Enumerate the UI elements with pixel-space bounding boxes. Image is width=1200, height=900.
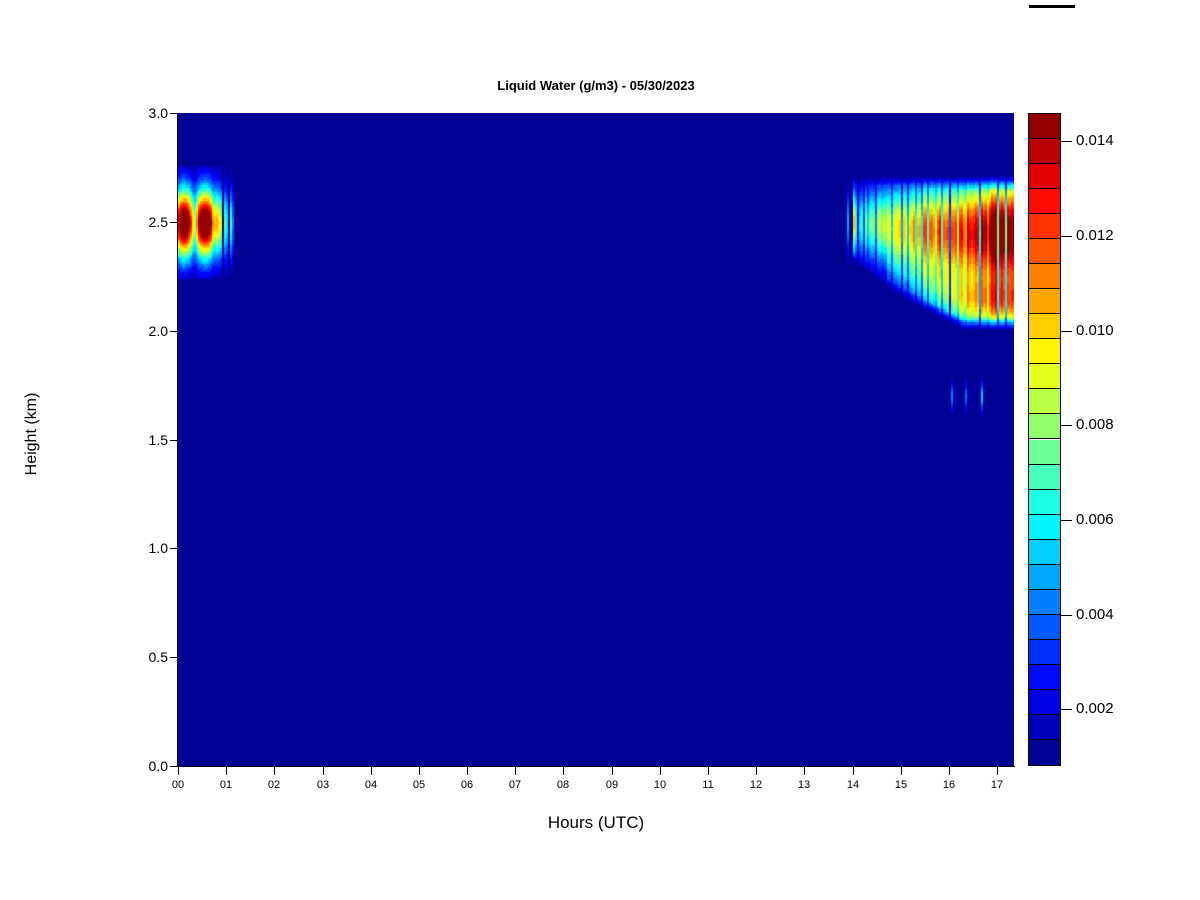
x-tick-mark [467, 767, 468, 775]
chart-title: Liquid Water (g/m3) - 05/30/2023 [178, 78, 1014, 93]
colorbar-tick-mark [1061, 141, 1072, 142]
x-tick-label: 15 [881, 779, 921, 791]
colorbar-tick-label: 0.006 [1076, 512, 1114, 527]
x-tick-mark [371, 767, 372, 775]
colorbar-band [1029, 540, 1060, 565]
x-axis-title: Hours (UTC) [178, 813, 1014, 833]
colorbar-band [1029, 515, 1060, 540]
x-tick-mark [997, 767, 998, 775]
colorbar-band [1029, 640, 1060, 665]
x-tick-mark [660, 767, 661, 775]
y-tick-label: 0.0 [149, 759, 168, 773]
y-tick-label: 1.5 [149, 433, 168, 447]
colorbar-band [1029, 239, 1060, 264]
x-tick-mark [804, 767, 805, 775]
y-tick-mark [170, 331, 177, 332]
colorbar-tick-mark [1061, 236, 1072, 237]
colorbar [1028, 113, 1061, 766]
y-tick-label: 2.5 [149, 215, 168, 229]
x-tick-label: 17 [977, 779, 1017, 791]
colorbar-band [1029, 189, 1060, 214]
x-tick-label: 14 [833, 779, 873, 791]
x-tick-label: 03 [303, 779, 343, 791]
x-tick-label: 01 [206, 779, 246, 791]
y-axis-title: Height (km) [23, 364, 41, 504]
colorbar-band [1029, 364, 1060, 389]
colorbar-band [1029, 565, 1060, 590]
x-tick-mark [756, 767, 757, 775]
colorbar-tick-label: 0.012 [1076, 228, 1114, 243]
x-tick-label: 07 [495, 779, 535, 791]
y-tick-mark [170, 766, 177, 767]
colorbar-tick-mark [1061, 331, 1072, 332]
colorbar-tick-label: 0.014 [1076, 133, 1114, 148]
colorbar-band [1029, 139, 1060, 164]
x-axis-line [177, 766, 1015, 767]
colorbar-band [1029, 339, 1060, 364]
colorbar-band [1029, 615, 1060, 640]
colorbar-tick-label: 0.004 [1076, 607, 1114, 622]
x-tick-label: 04 [351, 779, 391, 791]
y-tick-mark [170, 113, 177, 114]
x-tick-label: 02 [254, 779, 294, 791]
colorbar-tick-mark [1061, 520, 1072, 521]
colorbar-tick-mark [1061, 615, 1072, 616]
x-tick-mark [612, 767, 613, 775]
colorbar-band [1029, 289, 1060, 314]
colorbar-band [1029, 214, 1060, 239]
x-tick-mark [563, 767, 564, 775]
figure-canvas: Liquid Water (g/m3) - 05/30/2023 0.00.51… [0, 0, 1200, 900]
heatmap-image [178, 113, 1014, 766]
y-tick-mark [170, 548, 177, 549]
top-edge-artifact [1029, 5, 1075, 8]
x-tick-mark [515, 767, 516, 775]
y-tick-mark [170, 222, 177, 223]
x-tick-mark [226, 767, 227, 775]
colorbar-tick-mark [1061, 709, 1072, 710]
colorbar-tick-label: 0.008 [1076, 417, 1114, 432]
y-tick-label: 1.0 [149, 541, 168, 555]
x-tick-label: 00 [158, 779, 198, 791]
colorbar-band [1029, 440, 1060, 465]
colorbar-band [1029, 740, 1060, 765]
colorbar-band [1029, 590, 1060, 615]
colorbar-tick-label: 0.002 [1076, 701, 1114, 716]
y-tick-label: 2.0 [149, 324, 168, 338]
colorbar-tick-label: 0.010 [1076, 323, 1114, 338]
x-tick-label: 10 [640, 779, 680, 791]
colorbar-band [1029, 715, 1060, 740]
x-tick-mark [419, 767, 420, 775]
x-tick-label: 12 [736, 779, 776, 791]
x-tick-mark [178, 767, 179, 775]
x-tick-label: 06 [447, 779, 487, 791]
x-tick-mark [901, 767, 902, 775]
heatmap-plot-area [178, 113, 1014, 766]
colorbar-band [1029, 389, 1060, 414]
x-tick-mark [274, 767, 275, 775]
y-tick-mark [170, 440, 177, 441]
y-tick-mark [170, 657, 177, 658]
x-tick-label: 16 [929, 779, 969, 791]
x-tick-mark [708, 767, 709, 775]
x-tick-label: 09 [592, 779, 632, 791]
colorbar-band [1029, 114, 1060, 139]
colorbar-band [1029, 465, 1060, 490]
colorbar-band [1029, 690, 1060, 715]
x-tick-label: 08 [543, 779, 583, 791]
x-tick-label: 11 [688, 779, 728, 791]
x-tick-label: 13 [784, 779, 824, 791]
y-axis-line [177, 113, 178, 767]
colorbar-tick-mark [1061, 425, 1072, 426]
y-tick-label: 3.0 [149, 106, 168, 120]
x-tick-mark [323, 767, 324, 775]
x-tick-label: 05 [399, 779, 439, 791]
colorbar-band [1029, 490, 1060, 515]
x-tick-mark [949, 767, 950, 775]
colorbar-band [1029, 665, 1060, 690]
colorbar-band [1029, 264, 1060, 289]
x-tick-mark [853, 767, 854, 775]
colorbar-band [1029, 414, 1060, 439]
colorbar-band [1029, 314, 1060, 339]
y-tick-label: 0.5 [149, 650, 168, 664]
colorbar-band [1029, 164, 1060, 189]
